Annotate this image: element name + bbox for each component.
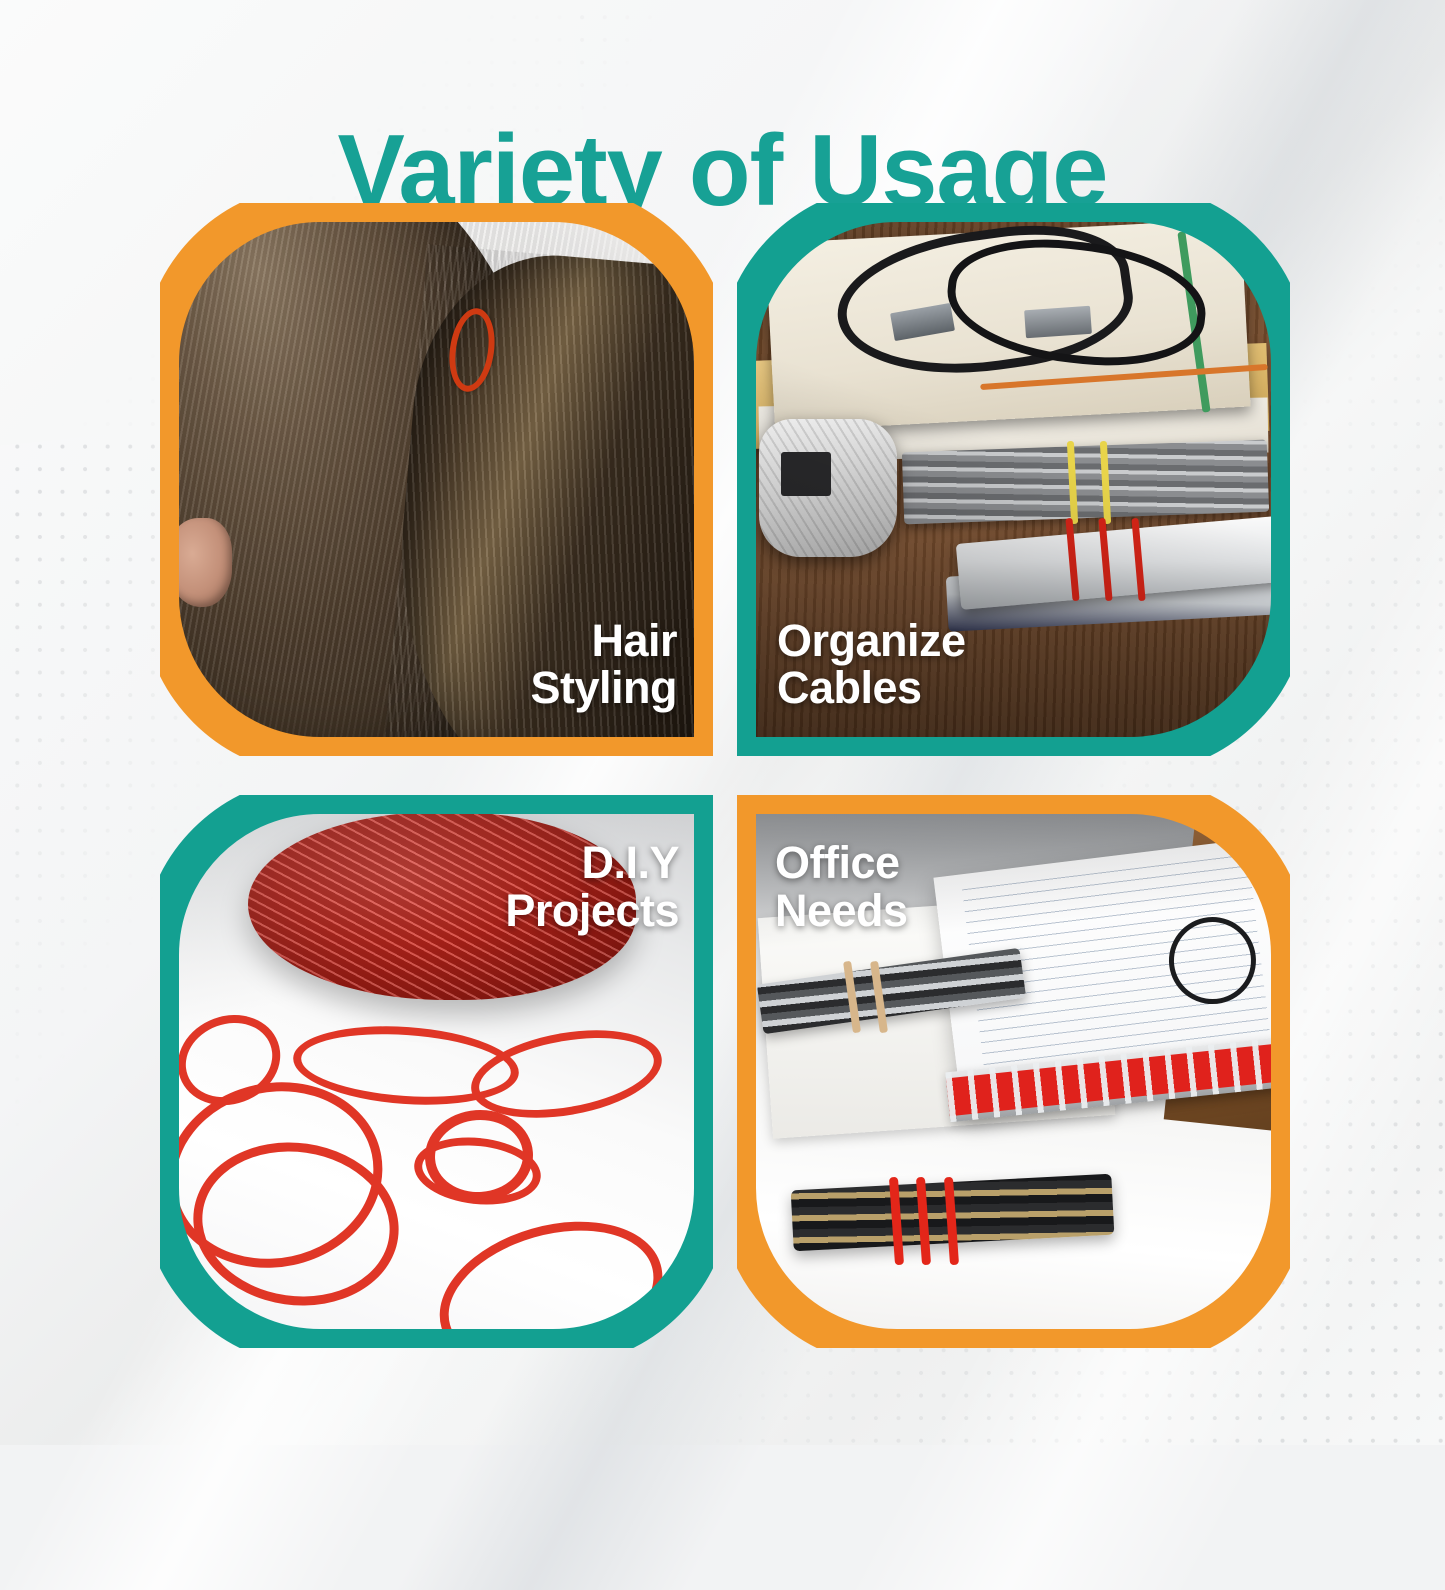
petal-caption-organize-cables: Organize Cables: [777, 617, 966, 712]
petal-card-diy-projects[interactable]: D.I.Y Projects: [160, 795, 713, 1348]
petal-card-hair-styling[interactable]: Hair Styling: [160, 203, 713, 756]
petal-caption-office-needs: Office Needs: [775, 839, 908, 934]
petal-card-organize-cables[interactable]: Organize Cables: [737, 203, 1290, 756]
petal-caption-diy-projects: D.I.Y Projects: [505, 839, 679, 934]
petal-grid: Hair Styling: [160, 203, 1290, 1363]
petal-caption-hair-styling: Hair Styling: [530, 617, 677, 712]
petal-card-office-needs[interactable]: Office Needs: [737, 795, 1290, 1348]
